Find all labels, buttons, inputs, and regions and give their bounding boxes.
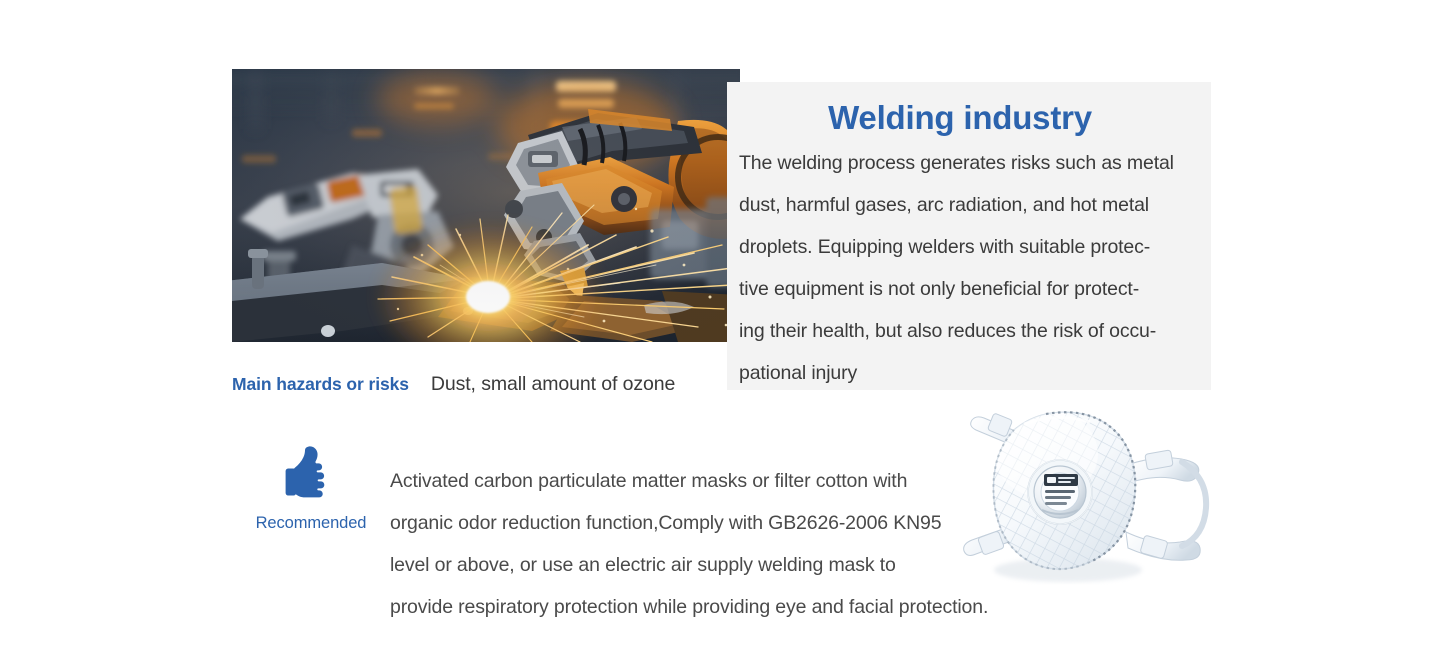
main-hazards-label: Main hazards or risks: [232, 374, 409, 395]
recommended-badge: Recommended: [232, 440, 390, 533]
page-title: Welding industry: [739, 98, 1197, 138]
main-hazards-value: Dust, small amount of ozone: [431, 373, 675, 396]
main-hazards-row: Main hazards or risks Dust, small amount…: [232, 373, 675, 396]
recommended-label: Recommended: [256, 514, 367, 533]
recommendation-block: Recommended Activated carbon particulate…: [232, 440, 1222, 647]
welding-hero-photo: [232, 69, 740, 342]
recommendation-text: Activated carbon particulate matter mask…: [390, 460, 988, 628]
welding-industry-info-panel: Welding industry The welding process gen…: [727, 82, 1211, 390]
thumbs-up-icon: [285, 446, 337, 502]
panel-description-text: The welding process generates risks such…: [739, 142, 1197, 394]
